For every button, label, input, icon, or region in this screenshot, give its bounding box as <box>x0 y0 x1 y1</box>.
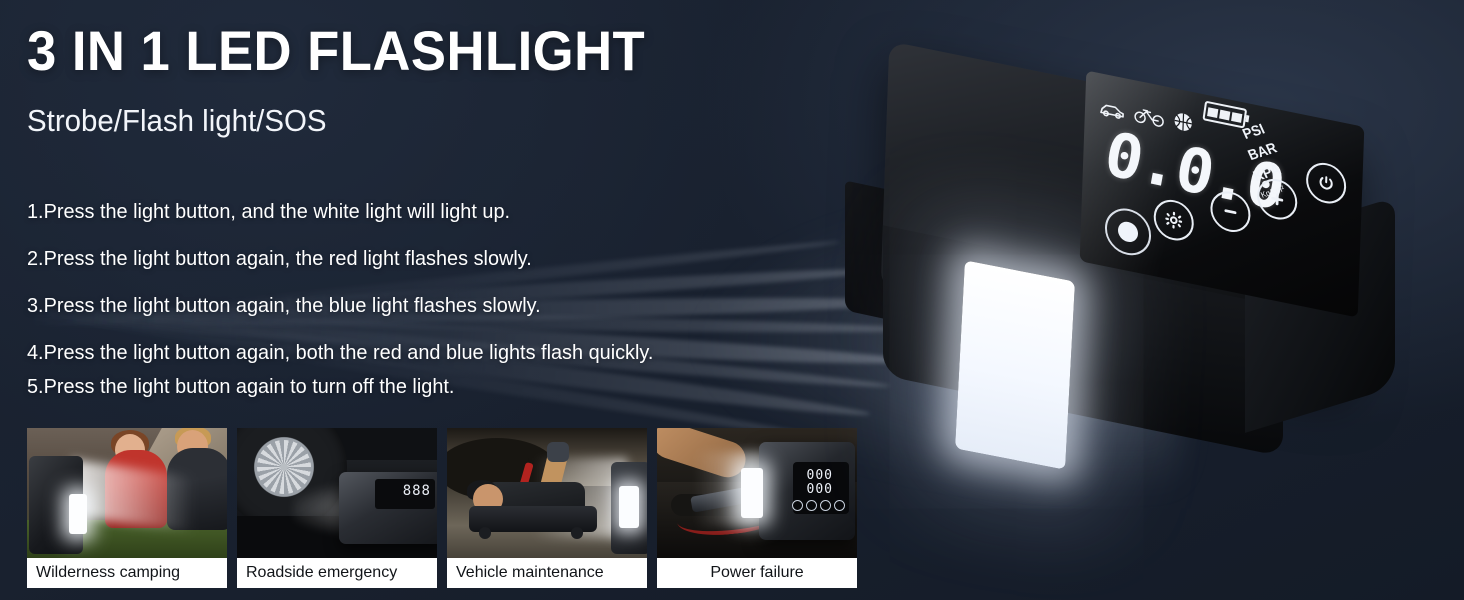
instruction-step: 1.Press the light button, and the white … <box>27 200 803 224</box>
device-button-dot <box>820 500 831 511</box>
product-device <box>611 462 647 554</box>
instruction-step: 5.Press the light button again to turn o… <box>27 375 803 399</box>
led-panel-icon <box>741 468 763 518</box>
product-hero-image: 0.0.0 PSI BAR KPA Kg/cm² <box>855 70 1464 500</box>
thumbnail-caption: Wilderness camping <box>27 558 227 588</box>
thumbnail-image-camping <box>27 428 227 558</box>
instruction-list: 1.Press the light button, and the white … <box>27 200 827 399</box>
minus-icon <box>1221 201 1240 223</box>
device-screen-reading: 000 <box>807 482 833 497</box>
minus-button[interactable] <box>1210 188 1251 236</box>
product-device <box>29 456 83 554</box>
mechanic-glove <box>547 442 569 462</box>
product-device: 888 <box>339 472 437 544</box>
light-dot-icon <box>1118 220 1139 244</box>
power-button[interactable] <box>1305 159 1346 207</box>
page-title: 3 IN 1 LED FLASHLIGHT <box>27 22 645 81</box>
thumbnail-caption: Power failure <box>657 558 857 588</box>
thumbnail-caption: Roadside emergency <box>237 558 437 588</box>
device-screen-reading: 888 <box>403 483 431 499</box>
power-icon <box>1317 172 1336 194</box>
led-flood-light-panel <box>955 260 1075 469</box>
device-button-dot <box>834 500 845 511</box>
thumbnail-caption: Vehicle maintenance <box>447 558 647 588</box>
use-case-card-roadside-emergency: 888 Roadside emergency <box>237 428 437 588</box>
thumbnail-image-power-failure: 000 000 <box>657 428 857 558</box>
device-button-dot <box>792 500 803 511</box>
page-subtitle: Strobe/Flash light/SOS <box>27 103 327 139</box>
instruction-step: 4.Press the light button again, both the… <box>27 341 803 365</box>
product-device: 000 000 <box>759 442 855 540</box>
led-panel-icon <box>619 486 639 528</box>
device-screen-reading: 000 <box>807 468 833 483</box>
product-banner: 3 IN 1 LED FLASHLIGHT Strobe/Flash light… <box>0 0 1464 600</box>
gear-icon <box>1163 208 1184 232</box>
use-case-card-wilderness-camping: Wilderness camping <box>27 428 227 588</box>
device-button-row <box>792 500 845 511</box>
plus-button[interactable] <box>1257 175 1298 223</box>
led-panel-icon <box>69 494 87 534</box>
use-case-card-vehicle-maintenance: Vehicle maintenance <box>447 428 647 588</box>
instruction-step: 3.Press the light button again, the blue… <box>27 294 803 318</box>
thumbnail-image-maintenance <box>447 428 647 558</box>
creeper-trolley <box>469 506 597 532</box>
instruction-step: 2.Press the light button again, the red … <box>27 247 803 271</box>
use-case-card-power-failure: 000 000 Power failure <box>657 428 857 588</box>
light-button[interactable] <box>1104 204 1152 259</box>
plus-icon <box>1268 188 1287 210</box>
use-case-thumbnail-strip: Wilderness camping 888 Roadside emergenc… <box>27 428 857 588</box>
device-button-dot <box>806 500 817 511</box>
thumbnail-image-roadside: 888 <box>237 428 437 558</box>
settings-gear-button[interactable] <box>1153 196 1194 244</box>
